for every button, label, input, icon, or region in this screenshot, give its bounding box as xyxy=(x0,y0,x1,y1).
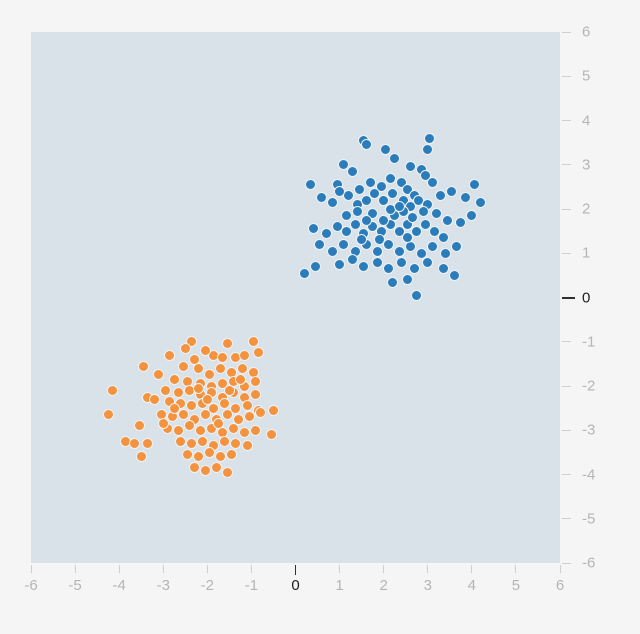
y-tick-mark xyxy=(562,76,571,77)
data-point xyxy=(200,465,211,476)
data-point xyxy=(215,363,226,374)
data-point xyxy=(385,173,396,184)
y-tick-label: -3 xyxy=(582,423,595,438)
data-point xyxy=(394,201,405,212)
y-tick-mark xyxy=(562,563,571,564)
data-point xyxy=(387,277,398,288)
data-point xyxy=(222,467,233,478)
data-point xyxy=(334,259,345,270)
y-tick-mark xyxy=(562,253,571,254)
data-point xyxy=(299,268,310,279)
x-tick-label: 2 xyxy=(379,578,387,593)
x-tick-label: -3 xyxy=(157,578,170,593)
data-point xyxy=(361,139,372,150)
data-point xyxy=(266,429,277,440)
data-point xyxy=(173,387,184,398)
data-point xyxy=(383,263,394,274)
x-tick-mark xyxy=(383,565,384,573)
data-point xyxy=(405,161,416,172)
y-tick-label: 1 xyxy=(582,246,590,261)
data-point xyxy=(431,208,442,219)
y-tick-label: 2 xyxy=(582,202,590,217)
data-point xyxy=(365,177,376,188)
data-point xyxy=(175,436,186,447)
data-point xyxy=(239,350,250,361)
y-tick-mark xyxy=(562,386,571,387)
x-tick-label: -4 xyxy=(112,578,125,593)
data-point xyxy=(129,438,140,449)
data-point xyxy=(411,290,422,301)
y-tick-mark xyxy=(562,518,571,519)
x-tick-mark xyxy=(560,565,561,573)
x-tick-label: 0 xyxy=(291,578,299,593)
data-point xyxy=(189,354,200,365)
data-point xyxy=(422,257,433,268)
data-point xyxy=(222,409,233,420)
data-point xyxy=(475,197,486,208)
data-point xyxy=(394,246,405,257)
y-tick-mark xyxy=(562,209,571,210)
y-tick-label: -4 xyxy=(582,467,595,482)
data-point xyxy=(314,239,325,250)
data-point xyxy=(438,232,449,243)
data-point xyxy=(180,343,191,354)
data-point xyxy=(204,369,215,380)
data-point xyxy=(204,447,215,458)
x-tick-label: -2 xyxy=(201,578,214,593)
data-point xyxy=(435,190,446,201)
data-point xyxy=(184,420,195,431)
data-point xyxy=(396,257,407,268)
data-point xyxy=(158,418,169,429)
x-tick-mark xyxy=(119,565,120,573)
x-tick-mark xyxy=(515,565,516,573)
data-point xyxy=(235,374,246,385)
data-point xyxy=(242,440,253,451)
data-point xyxy=(387,188,398,199)
data-point xyxy=(438,263,449,274)
data-point xyxy=(149,394,160,405)
data-point xyxy=(347,254,358,265)
data-point xyxy=(253,347,264,358)
data-point xyxy=(427,177,438,188)
data-point xyxy=(248,336,259,347)
plot-area xyxy=(31,32,560,563)
y-tick-mark xyxy=(562,341,571,342)
data-point xyxy=(334,186,345,197)
x-tick-label: -6 xyxy=(24,578,37,593)
x-tick-mark xyxy=(427,565,428,573)
data-point xyxy=(164,350,175,361)
data-point xyxy=(173,425,184,436)
data-point xyxy=(136,451,147,462)
data-point xyxy=(217,352,228,363)
data-point xyxy=(380,144,391,155)
data-point xyxy=(316,192,327,203)
scatter-chart-figure: -6-5-4-3-2-10123456 -6-5-4-3-2-10123456 xyxy=(0,0,640,634)
data-point xyxy=(358,261,369,272)
data-point xyxy=(440,248,451,259)
data-point xyxy=(446,186,457,197)
y-tick-label: 3 xyxy=(582,157,590,172)
data-point xyxy=(230,438,241,449)
data-point xyxy=(142,438,153,449)
y-tick-label: -1 xyxy=(582,334,595,349)
x-tick-label: 3 xyxy=(424,578,432,593)
data-point xyxy=(202,394,213,405)
data-point xyxy=(449,270,460,281)
data-point xyxy=(352,206,363,217)
y-tick-mark xyxy=(562,430,571,431)
data-point xyxy=(193,451,204,462)
data-point xyxy=(242,400,253,411)
data-point xyxy=(186,438,197,449)
data-point xyxy=(160,385,171,396)
data-point xyxy=(418,206,429,217)
y-tick-mark xyxy=(562,164,571,165)
y-tick-mark xyxy=(562,297,575,299)
data-point xyxy=(134,420,145,431)
x-tick-mark xyxy=(163,565,164,573)
data-point xyxy=(389,153,400,164)
data-point xyxy=(350,219,361,230)
data-point xyxy=(153,369,164,380)
data-point xyxy=(338,239,349,250)
data-point xyxy=(169,374,180,385)
data-point xyxy=(228,423,239,434)
x-tick-label: 4 xyxy=(468,578,476,593)
data-point xyxy=(268,405,279,416)
x-tick-mark xyxy=(251,565,252,573)
data-point xyxy=(250,425,261,436)
data-point xyxy=(219,436,230,447)
data-point xyxy=(347,166,358,177)
data-point xyxy=(409,263,420,274)
data-point xyxy=(455,217,466,228)
data-point xyxy=(327,197,338,208)
data-point xyxy=(200,345,211,356)
data-point xyxy=(195,425,206,436)
data-point xyxy=(361,215,372,226)
data-point xyxy=(138,361,149,372)
data-point xyxy=(321,228,332,239)
data-point xyxy=(239,427,250,438)
data-point xyxy=(451,241,462,252)
data-point xyxy=(250,389,261,400)
data-point xyxy=(407,212,418,223)
data-point xyxy=(222,338,233,349)
x-tick-mark xyxy=(339,565,340,573)
x-tick-mark xyxy=(31,565,32,573)
data-point xyxy=(200,409,211,420)
data-point xyxy=(250,376,261,387)
data-point xyxy=(215,451,226,462)
data-point xyxy=(466,210,477,221)
data-point xyxy=(469,179,480,190)
data-point xyxy=(178,361,189,372)
data-point xyxy=(193,383,204,394)
x-tick-label: 1 xyxy=(335,578,343,593)
data-point xyxy=(327,246,338,257)
x-tick-mark xyxy=(295,565,297,575)
data-point xyxy=(427,241,438,252)
data-point xyxy=(255,407,266,418)
data-point xyxy=(237,363,248,374)
x-tick-mark xyxy=(75,565,76,573)
data-point xyxy=(224,385,235,396)
y-tick-mark xyxy=(562,32,571,33)
y-tick-mark xyxy=(562,120,571,121)
x-tick-mark xyxy=(471,565,472,573)
x-tick-label: 5 xyxy=(512,578,520,593)
x-tick-label: -1 xyxy=(245,578,258,593)
data-point xyxy=(107,385,118,396)
data-point xyxy=(308,223,319,234)
data-point xyxy=(460,192,471,203)
y-tick-label: -2 xyxy=(582,379,595,394)
data-point xyxy=(422,144,433,155)
data-point xyxy=(213,418,224,429)
data-point xyxy=(354,184,365,195)
y-tick-mark xyxy=(562,474,571,475)
data-point xyxy=(372,246,383,257)
data-point xyxy=(189,462,200,473)
data-point xyxy=(424,133,435,144)
data-point xyxy=(372,257,383,268)
data-point xyxy=(197,436,208,447)
data-point xyxy=(305,179,316,190)
x-tick-mark xyxy=(207,565,208,573)
data-point xyxy=(402,274,413,285)
y-tick-label: 4 xyxy=(582,113,590,128)
data-point xyxy=(182,449,193,460)
data-point xyxy=(442,215,453,226)
y-tick-label: 0 xyxy=(582,290,590,305)
data-point xyxy=(226,449,237,460)
data-point xyxy=(244,411,255,422)
y-tick-label: 6 xyxy=(582,25,590,40)
data-point xyxy=(310,261,321,272)
data-point xyxy=(219,398,230,409)
data-point xyxy=(186,400,197,411)
y-tick-label: -6 xyxy=(582,556,595,571)
data-point xyxy=(169,403,180,414)
data-point xyxy=(341,210,352,221)
y-tick-label: -5 xyxy=(582,511,595,526)
y-tick-label: 5 xyxy=(582,69,590,84)
data-point xyxy=(211,462,222,473)
data-point xyxy=(103,409,114,420)
data-point xyxy=(378,215,389,226)
x-tick-label: -5 xyxy=(68,578,81,593)
x-tick-label: 6 xyxy=(556,578,564,593)
